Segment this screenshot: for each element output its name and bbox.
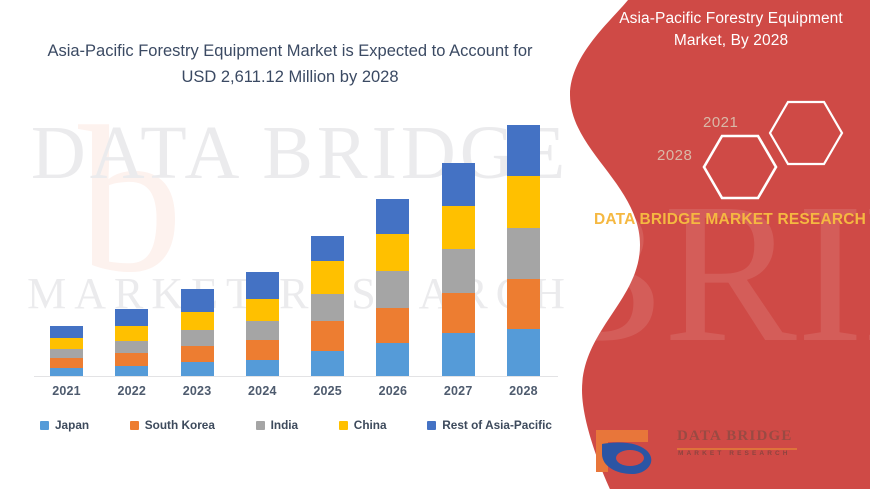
bar-segment-japan[interactable] [246,360,279,376]
bar-stack[interactable] [311,236,344,376]
bridge-logo-icon [592,420,670,476]
bar-segment-japan[interactable] [50,368,83,376]
hexagon-2021 [770,102,842,164]
hexagon-2028-label: 2028 [657,147,692,164]
bar-segment-south-korea[interactable] [246,340,279,360]
bar-segment-china[interactable] [181,312,214,330]
legend-item-japan[interactable]: Japan [40,418,89,432]
bar-stack[interactable] [507,125,540,376]
logo-title: DATA BRIDGE [677,428,793,445]
bar-segment-south-korea[interactable] [311,321,344,351]
bar-segment-india[interactable] [442,249,475,293]
x-axis-label-2028: 2028 [491,384,556,398]
bar-segment-south-korea[interactable] [50,358,83,368]
x-axis-label-2025: 2025 [295,384,360,398]
bar-segment-rest-of-asia-pacific[interactable] [115,309,148,326]
bar-segment-china[interactable] [246,299,279,321]
brand-name: DATA BRIDGE MARKET RESEARCH [590,208,870,231]
bar-segment-japan[interactable] [507,329,540,376]
legend-swatch-icon [40,421,49,430]
bar-column-2024[interactable] [230,108,295,376]
legend-label: China [354,418,387,432]
bar-segment-china[interactable] [115,326,148,341]
hexagon-2028 [704,136,776,198]
infographic-canvas: b DATA BRIDGE MARKET RESEARCH Asia-Pacif… [0,0,870,489]
bar-stack[interactable] [246,272,279,376]
bar-segment-india[interactable] [311,294,344,321]
bar-group [34,108,556,376]
bar-column-2021[interactable] [34,108,99,376]
legend-item-rest-of-asia-pacific[interactable]: Rest of Asia-Pacific [427,418,552,432]
bar-column-2022[interactable] [99,108,164,376]
legend-label: South Korea [145,418,215,432]
bar-segment-rest-of-asia-pacific[interactable] [181,289,214,312]
x-axis-label-2021: 2021 [34,384,99,398]
bar-segment-japan[interactable] [442,333,475,376]
bar-segment-rest-of-asia-pacific[interactable] [376,199,409,234]
bar-segment-china[interactable] [442,206,475,249]
brand-panel: BRIDGE Asia-Pacific Forestry Equipment M… [570,0,870,489]
x-axis-labels: 20212022202320242025202620272028 [34,384,556,398]
x-axis-label-2027: 2027 [426,384,491,398]
legend-label: Japan [55,418,89,432]
x-axis-label-2026: 2026 [360,384,425,398]
legend-label: India [271,418,299,432]
bar-stack[interactable] [442,163,475,376]
bar-segment-rest-of-asia-pacific[interactable] [442,163,475,206]
bar-segment-china[interactable] [376,234,409,271]
bar-stack[interactable] [376,199,409,376]
chart-area: b DATA BRIDGE MARKET RESEARCH Asia-Pacif… [0,0,600,489]
bar-segment-japan[interactable] [181,362,214,376]
bar-segment-india[interactable] [50,349,83,358]
bar-segment-japan[interactable] [376,343,409,376]
bar-segment-south-korea[interactable] [507,279,540,329]
bar-stack[interactable] [115,309,148,376]
bar-segment-india[interactable] [376,271,409,308]
bar-segment-japan[interactable] [311,351,344,376]
bar-segment-south-korea[interactable] [442,293,475,333]
legend-swatch-icon [427,421,436,430]
legend-swatch-icon [256,421,265,430]
bar-segment-rest-of-asia-pacific[interactable] [50,326,83,338]
bar-stack[interactable] [181,289,214,376]
bar-segment-india[interactable] [181,330,214,346]
bar-segment-south-korea[interactable] [115,353,148,366]
bar-segment-india[interactable] [507,228,540,279]
bar-column-2027[interactable] [426,108,491,376]
bar-column-2025[interactable] [295,108,360,376]
bar-segment-rest-of-asia-pacific[interactable] [246,272,279,299]
legend-item-china[interactable]: China [339,418,387,432]
chart-legend: JapanSouth KoreaIndiaChinaRest of Asia-P… [40,418,552,432]
company-logo: DATA BRIDGE MARKET RESEARCH [592,420,862,480]
panel-content: Asia-Pacific Forestry Equipment Market, … [570,0,870,489]
x-axis-label-2023: 2023 [165,384,230,398]
bar-column-2026[interactable] [360,108,425,376]
bar-segment-south-korea[interactable] [376,308,409,343]
legend-swatch-icon [339,421,348,430]
hexagon-2021-label: 2021 [703,114,738,131]
legend-label: Rest of Asia-Pacific [442,418,552,432]
bar-segment-rest-of-asia-pacific[interactable] [311,236,344,261]
legend-item-india[interactable]: India [256,418,299,432]
legend-item-south-korea[interactable]: South Korea [130,418,215,432]
chart-title: Asia-Pacific Forestry Equipment Market i… [30,38,550,91]
x-axis-line [34,376,558,377]
panel-title: Asia-Pacific Forestry Equipment Market, … [600,8,862,53]
bar-segment-india[interactable] [115,341,148,353]
bar-segment-japan[interactable] [115,366,148,376]
x-axis-label-2022: 2022 [99,384,164,398]
bar-segment-south-korea[interactable] [181,346,214,362]
bar-segment-china[interactable] [311,261,344,294]
bar-segment-china[interactable] [50,338,83,349]
bar-segment-india[interactable] [246,321,279,340]
x-axis-label-2024: 2024 [230,384,295,398]
bar-segment-rest-of-asia-pacific[interactable] [507,125,540,176]
bar-column-2023[interactable] [165,108,230,376]
legend-swatch-icon [130,421,139,430]
logo-subtitle: MARKET RESEARCH [678,450,791,457]
bar-stack[interactable] [50,326,83,376]
bar-segment-china[interactable] [507,176,540,228]
bar-column-2028[interactable] [491,108,556,376]
